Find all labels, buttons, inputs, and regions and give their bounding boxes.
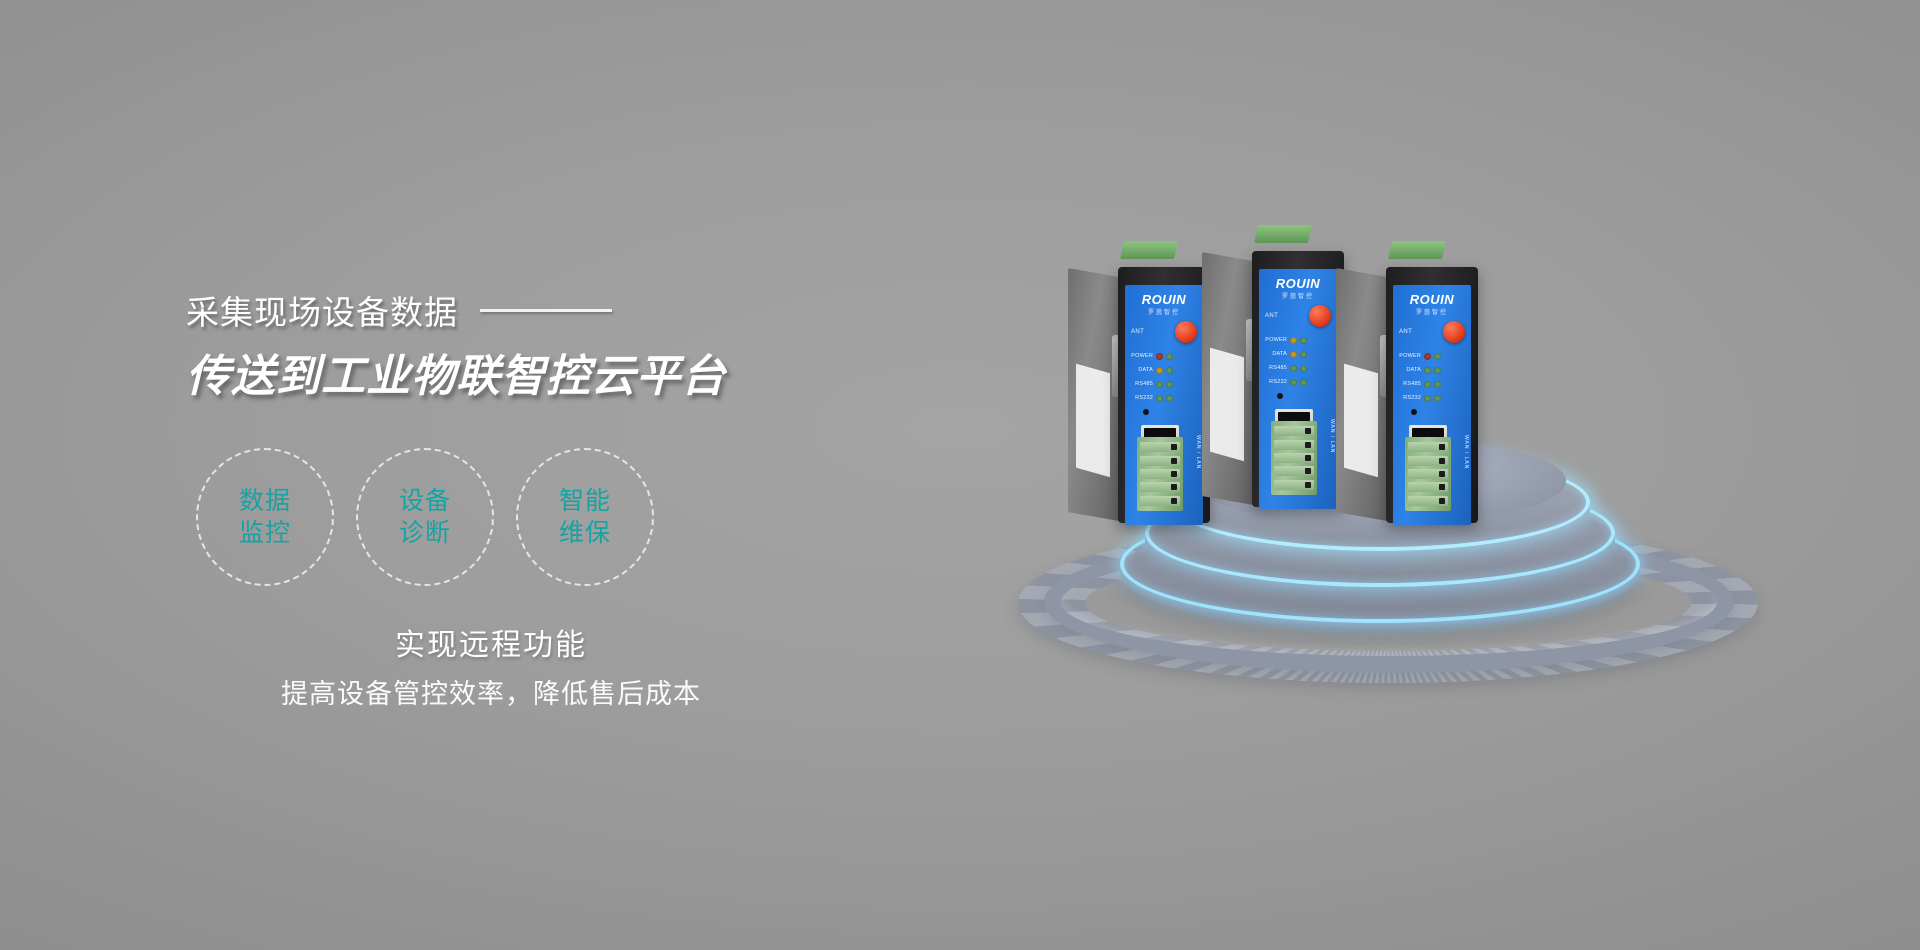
antenna-row: ANT <box>1265 305 1331 327</box>
port-label: WAN / LAN <box>1195 435 1201 469</box>
led-label: RS485 <box>1131 381 1153 387</box>
led-indicator-icon <box>1166 353 1173 360</box>
led-indicator-icon <box>1424 381 1431 388</box>
device-front-panel: ROUIN 罗茵智控 ANT POWER <box>1259 269 1337 509</box>
led-indicator-icon <box>1300 351 1307 358</box>
device-bezel: ROUIN 罗茵智控 ANT POWER <box>1118 267 1210 523</box>
brand-logo-subtext: 罗茵智控 <box>1393 307 1471 316</box>
top-terminal-connector <box>1254 225 1312 243</box>
led-indicator-icon <box>1300 379 1307 386</box>
led-label: RS485 <box>1265 365 1287 371</box>
led-label: RS232 <box>1265 379 1287 385</box>
device-front-panel: ROUIN 罗茵智控 ANT POWER <box>1393 285 1471 525</box>
led-indicator-icon <box>1290 351 1297 358</box>
headline-line-1: 采集现场设备数据 <box>186 286 458 334</box>
antenna-connector-icon <box>1309 305 1331 327</box>
led-indicator-icon <box>1166 381 1173 388</box>
antenna-connector-icon <box>1175 321 1197 343</box>
subheadline: 实现远程功能 <box>186 620 796 664</box>
reset-button-icon[interactable] <box>1411 409 1417 415</box>
brand-logo-subtext: 罗茵智控 <box>1125 307 1203 316</box>
led-label: POWER <box>1399 353 1421 359</box>
device-bezel: ROUIN 罗茵智控 ANT POWER <box>1386 267 1478 523</box>
led-indicator-icon <box>1434 395 1441 402</box>
port-label: WAN / LAN <box>1329 419 1335 453</box>
product-device-left: ROUIN 罗茵智控 ANT POWER <box>1118 257 1210 525</box>
device-spec-sticker <box>1344 364 1378 478</box>
top-terminal-connector <box>1388 241 1446 259</box>
brand-logo: ROUIN <box>1393 292 1471 307</box>
led-indicator-icon <box>1424 353 1431 360</box>
led-indicator-icon <box>1166 367 1173 374</box>
feature-label-line1: 设备 <box>399 485 451 517</box>
feature-label-line2: 维保 <box>559 517 611 549</box>
feature-circle-smart-maintenance[interactable]: 智能 维保 <box>516 448 654 586</box>
feature-label-line1: 数据 <box>239 485 291 517</box>
top-terminal-connector <box>1120 241 1178 259</box>
led-indicator-icon <box>1300 365 1307 372</box>
led-indicator-icon <box>1290 365 1297 372</box>
feature-circle-device-diagnosis[interactable]: 设备 诊断 <box>356 448 494 586</box>
terminal-block-icon <box>1405 437 1451 511</box>
tagline: 提高设备管控效率，降低售后成本 <box>186 672 796 711</box>
headline-divider-line <box>480 309 612 312</box>
product-hero-banner: 采集现场设备数据 传送到工业物联智控云平台 数据 监控 设备 诊断 智能 维保 … <box>0 0 1920 950</box>
terminal-block-icon <box>1137 437 1183 511</box>
led-indicator-icon <box>1166 395 1173 402</box>
device-spec-sticker <box>1076 364 1110 478</box>
led-row-rs485: RS485 <box>1265 361 1331 375</box>
feature-circle-group: 数据 监控 设备 诊断 智能 维保 <box>196 448 654 586</box>
feature-circle-data-monitor[interactable]: 数据 监控 <box>196 448 334 586</box>
port-label: WAN / LAN <box>1463 435 1469 469</box>
led-indicator-icon <box>1434 367 1441 374</box>
led-indicator-icon <box>1156 353 1163 360</box>
hero-copy-block: 采集现场设备数据 传送到工业物联智控云平台 <box>186 288 826 404</box>
led-row-data: DATA <box>1131 363 1197 377</box>
led-label: RS485 <box>1399 381 1421 387</box>
device-front-panel: ROUIN 罗茵智控 ANT POWER <box>1125 285 1203 525</box>
antenna-connector-icon <box>1443 321 1465 343</box>
led-indicator-icon <box>1156 395 1163 402</box>
led-indicator-icon <box>1156 381 1163 388</box>
led-label: POWER <box>1265 337 1287 343</box>
led-row-power: POWER <box>1131 349 1197 363</box>
led-row-rs232: RS232 <box>1399 391 1465 405</box>
antenna-label: ANT <box>1131 329 1144 335</box>
reset-button-icon[interactable] <box>1143 409 1149 415</box>
led-indicator-icon <box>1156 367 1163 374</box>
led-label: DATA <box>1265 351 1287 357</box>
reset-button-icon[interactable] <box>1277 393 1283 399</box>
led-row-power: POWER <box>1265 333 1331 347</box>
led-indicator-grid: POWER DATA RS485 <box>1265 333 1331 389</box>
product-device-center: ROUIN 罗茵智控 ANT POWER <box>1252 241 1344 509</box>
led-row-data: DATA <box>1399 363 1465 377</box>
led-row-power: POWER <box>1399 349 1465 363</box>
product-device-right: ROUIN 罗茵智控 ANT POWER <box>1386 257 1478 525</box>
led-label: POWER <box>1131 353 1153 359</box>
led-indicator-icon <box>1424 367 1431 374</box>
device-spec-sticker <box>1210 348 1244 462</box>
led-row-rs485: RS485 <box>1399 377 1465 391</box>
led-label: RS232 <box>1399 395 1421 401</box>
feature-label-line1: 智能 <box>559 485 611 517</box>
led-row-rs232: RS232 <box>1131 391 1197 405</box>
brand-logo-subtext: 罗茵智控 <box>1259 291 1337 300</box>
led-label: DATA <box>1131 367 1153 373</box>
headline-primary-row: 采集现场设备数据 <box>186 288 826 332</box>
led-row-rs485: RS485 <box>1131 377 1197 391</box>
brand-logo: ROUIN <box>1259 276 1337 291</box>
feature-label-line2: 监控 <box>239 517 291 549</box>
antenna-row: ANT <box>1131 321 1197 343</box>
antenna-label: ANT <box>1399 329 1412 335</box>
antenna-label: ANT <box>1265 313 1278 319</box>
led-label: DATA <box>1399 367 1421 373</box>
led-indicator-icon <box>1434 353 1441 360</box>
led-indicator-icon <box>1290 379 1297 386</box>
led-row-data: DATA <box>1265 347 1331 361</box>
brand-logo: ROUIN <box>1125 292 1203 307</box>
led-indicator-icon <box>1434 381 1441 388</box>
led-indicator-grid: POWER DATA RS485 <box>1399 349 1465 405</box>
led-indicator-icon <box>1424 395 1431 402</box>
antenna-row: ANT <box>1399 321 1465 343</box>
feature-label-line2: 诊断 <box>399 517 451 549</box>
headline-line-2: 传送到工业物联智控云平台 <box>186 340 826 404</box>
led-indicator-icon <box>1290 337 1297 344</box>
device-bezel: ROUIN 罗茵智控 ANT POWER <box>1252 251 1344 507</box>
led-indicator-icon <box>1300 337 1307 344</box>
led-row-rs232: RS232 <box>1265 375 1331 389</box>
terminal-block-icon <box>1271 421 1317 495</box>
led-label: RS232 <box>1131 395 1153 401</box>
product-scene: ROUIN 罗茵智控 ANT POWER <box>1000 255 1760 705</box>
led-indicator-grid: POWER DATA RS485 <box>1131 349 1197 405</box>
